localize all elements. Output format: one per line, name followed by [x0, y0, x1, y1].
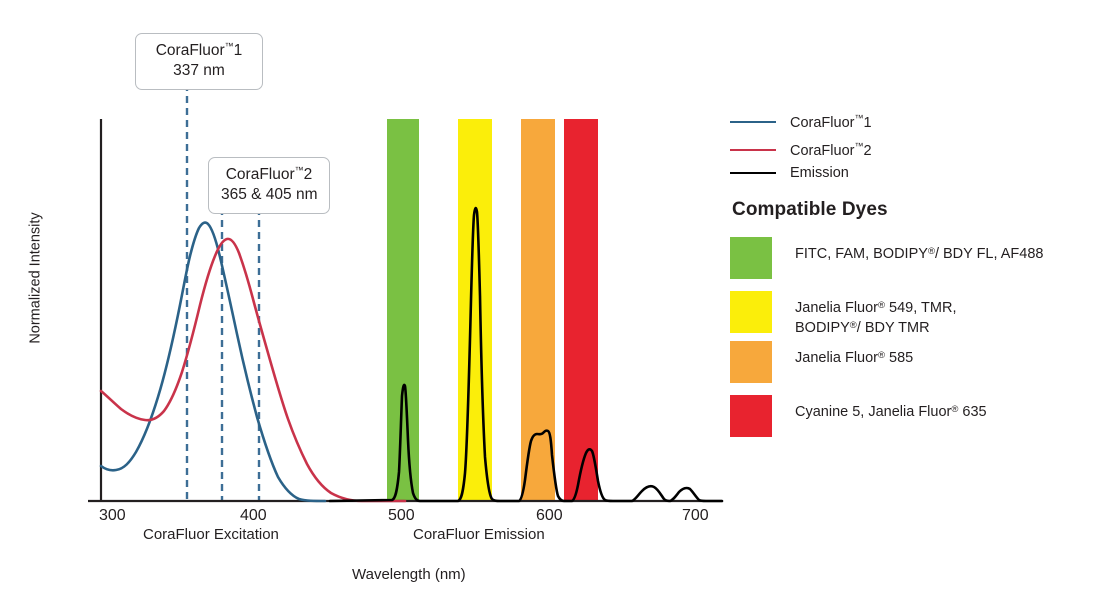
- legend-line-corafluor-2: [730, 149, 776, 151]
- dye-label-green: FITC, FAM, BODIPY®/ BDY FL, AF488: [795, 237, 1043, 265]
- excitation-section-label: CoraFluor Excitation: [143, 526, 279, 543]
- legend-item-corafluor-1: CoraFluor™1: [730, 113, 872, 131]
- red-band: [564, 119, 598, 501]
- dye-swatch-yellow: [730, 291, 772, 333]
- corafluor2-excitation-curve: [101, 239, 405, 501]
- legend-item-emission: Emission: [730, 165, 849, 181]
- dye-swatch-green: [730, 237, 772, 279]
- callout-corafluor-2: CoraFluor™2 365 & 405 nm: [208, 157, 330, 214]
- callout-cf2-title: CoraFluor™2: [226, 166, 313, 183]
- x-axis-label: Wavelength (nm): [352, 566, 466, 583]
- callout-cf1-title: CoraFluor™1: [156, 42, 243, 59]
- chart-plot-area: CoraFluor™1 337 nm CoraFluor™2 365 & 405…: [0, 0, 730, 612]
- legend-label-emission: Emission: [790, 165, 849, 181]
- yellow-band: [458, 119, 492, 501]
- dye-label-red: Cyanine 5, Janelia Fluor® 635: [795, 395, 987, 423]
- green-band: [387, 119, 419, 501]
- dye-item-red: Cyanine 5, Janelia Fluor® 635: [730, 395, 987, 437]
- legend-line-emission: [730, 172, 776, 174]
- legend-label-corafluor-2: CoraFluor™2: [790, 141, 872, 159]
- y-axis-label: Normalized Intensity: [28, 212, 44, 343]
- excitation-marker-lines: [187, 84, 259, 501]
- callout-cf2-value: 365 & 405 nm: [221, 185, 317, 205]
- dye-label-orange: Janelia Fluor® 585: [795, 341, 913, 369]
- dye-swatch-red: [730, 395, 772, 437]
- legend-item-corafluor-2: CoraFluor™2: [730, 141, 872, 159]
- x-tick-700: 700: [682, 507, 709, 525]
- emission-filter-bands: [387, 119, 598, 501]
- x-tick-500: 500: [388, 507, 415, 525]
- spectra-figure: CoraFluor™1 337 nm CoraFluor™2 365 & 405…: [0, 0, 1110, 612]
- dye-label-yellow: Janelia Fluor® 549, TMR,BODIPY®/ BDY TMR: [795, 291, 956, 338]
- x-tick-300: 300: [99, 507, 126, 525]
- emission-section-label: CoraFluor Emission: [413, 526, 545, 543]
- dye-swatch-orange: [730, 341, 772, 383]
- callout-corafluor-1: CoraFluor™1 337 nm: [135, 33, 263, 90]
- callout-cf1-value: 337 nm: [148, 61, 250, 81]
- x-tick-400: 400: [240, 507, 267, 525]
- dye-item-green: FITC, FAM, BODIPY®/ BDY FL, AF488: [730, 237, 1043, 279]
- compatible-dyes-title: Compatible Dyes: [732, 199, 888, 221]
- dye-item-orange: Janelia Fluor® 585: [730, 341, 913, 383]
- x-tick-600: 600: [536, 507, 563, 525]
- legend-label-corafluor-1: CoraFluor™1: [790, 113, 872, 131]
- legend-panel: CoraFluor™1 CoraFluor™2 Emission Compati…: [730, 0, 1110, 612]
- dye-item-yellow: Janelia Fluor® 549, TMR,BODIPY®/ BDY TMR: [730, 291, 956, 338]
- legend-line-corafluor-1: [730, 121, 776, 123]
